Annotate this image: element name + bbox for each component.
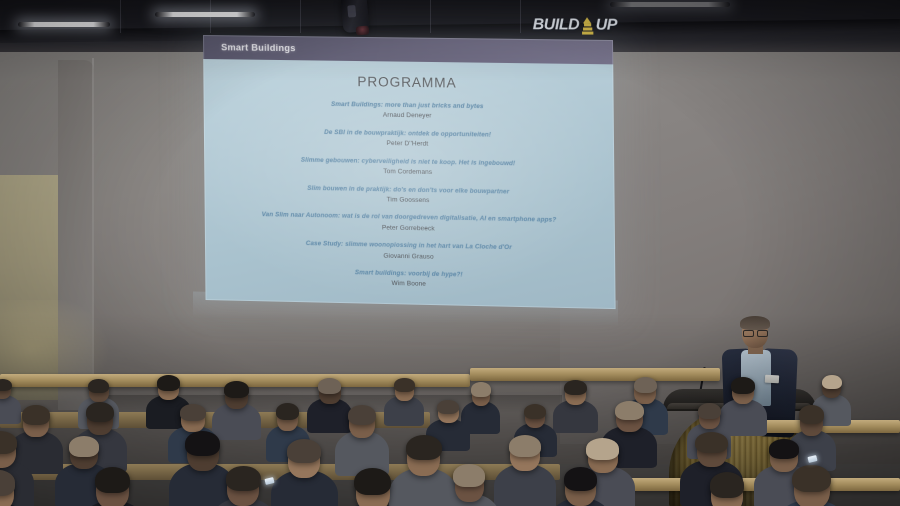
auditorium-scene: BUILD UP Smart Buildings PROGRAMMA Smart… xyxy=(0,0,900,506)
bench-row xyxy=(600,478,900,491)
audience-hair xyxy=(224,381,249,398)
audience-shoulders xyxy=(384,396,424,426)
audience-hair xyxy=(69,436,99,457)
ceiling-strut xyxy=(520,0,521,33)
audience-hair xyxy=(799,405,824,424)
ceiling-strut xyxy=(430,0,431,33)
presenter-hair xyxy=(740,316,770,330)
audience-shoulders xyxy=(212,403,261,440)
ceiling-strut xyxy=(300,0,301,33)
audience-hair xyxy=(615,401,644,420)
audience-hair xyxy=(586,438,619,459)
audience-hair xyxy=(822,375,842,390)
logo-word-build: BUILD xyxy=(533,16,580,34)
audience-hair xyxy=(564,467,597,491)
slide-title: PROGRAMMA xyxy=(203,72,613,93)
slide-header-title: Smart Buildings xyxy=(221,42,296,53)
audience-shoulders xyxy=(0,395,21,423)
audience-hair xyxy=(509,435,541,457)
audience-shoulders xyxy=(553,400,598,434)
audience-hair xyxy=(394,378,415,392)
ceiling-light-icon xyxy=(155,12,255,17)
program-item: Slim bouwen in de praktijk: do's en don'… xyxy=(204,183,614,208)
audience-hair xyxy=(354,468,391,496)
program-item: Van Slim naar Autonoom: wat is de rol va… xyxy=(205,210,615,235)
audience-hair xyxy=(769,439,800,459)
audience-hair xyxy=(88,379,109,393)
ceiling-light-icon xyxy=(18,22,110,27)
program-list: Smart Buildings: more than just bricks a… xyxy=(204,99,616,292)
program-item: Slimme gebouwen: cyberveiligheid is niet… xyxy=(204,155,614,179)
ceiling-strut xyxy=(120,0,121,33)
audience-hair xyxy=(185,431,220,456)
building-icon xyxy=(582,17,593,34)
audience-hair xyxy=(437,400,459,415)
program-item: De SBI in de bouwpraktijk: ontdek de opp… xyxy=(204,127,614,151)
projector-lens-icon xyxy=(356,25,370,35)
program-item: Smart Buildings: more than just bricks a… xyxy=(204,99,614,123)
audience-hair xyxy=(180,404,206,421)
audience-hair xyxy=(634,377,657,394)
audience-hair xyxy=(695,432,727,454)
audience-hair xyxy=(22,405,49,425)
audience-hair xyxy=(406,435,442,461)
glasses-icon xyxy=(742,330,768,335)
audience-hair xyxy=(348,405,376,425)
audience-hair xyxy=(95,467,130,493)
audience-hair xyxy=(564,380,587,395)
audience-hair xyxy=(287,439,322,463)
audience-hair xyxy=(524,404,546,419)
audience-hair xyxy=(157,375,180,390)
audience-hair xyxy=(276,403,299,420)
audience-hair xyxy=(86,402,114,422)
audience-shoulders xyxy=(307,398,352,433)
audience xyxy=(0,360,900,506)
audience-hair xyxy=(318,378,341,394)
audience-hair xyxy=(710,472,745,498)
program-item: Case Study: slimme woonoplossing in het … xyxy=(205,238,615,264)
audience-hair xyxy=(698,403,721,419)
bench-row xyxy=(470,368,720,381)
ceiling-light-icon xyxy=(610,2,730,7)
audience-hair xyxy=(471,382,491,397)
slide-body: PROGRAMMA Smart Buildings: more than jus… xyxy=(203,59,615,309)
audience-hair xyxy=(453,464,484,487)
audience-hair xyxy=(0,431,17,454)
logo-word-up: UP xyxy=(596,16,618,34)
projection-screen: BUILD UP Smart Buildings PROGRAMMA Smart… xyxy=(203,35,616,309)
wall-seam xyxy=(92,58,94,410)
build-up-logo: BUILD UP xyxy=(533,16,618,35)
audience-hair xyxy=(731,377,755,394)
program-item: Smart buildings: voorbij de hype?!Wim Bo… xyxy=(205,266,615,292)
audience-hair xyxy=(226,466,261,491)
audience-hair xyxy=(792,465,831,493)
